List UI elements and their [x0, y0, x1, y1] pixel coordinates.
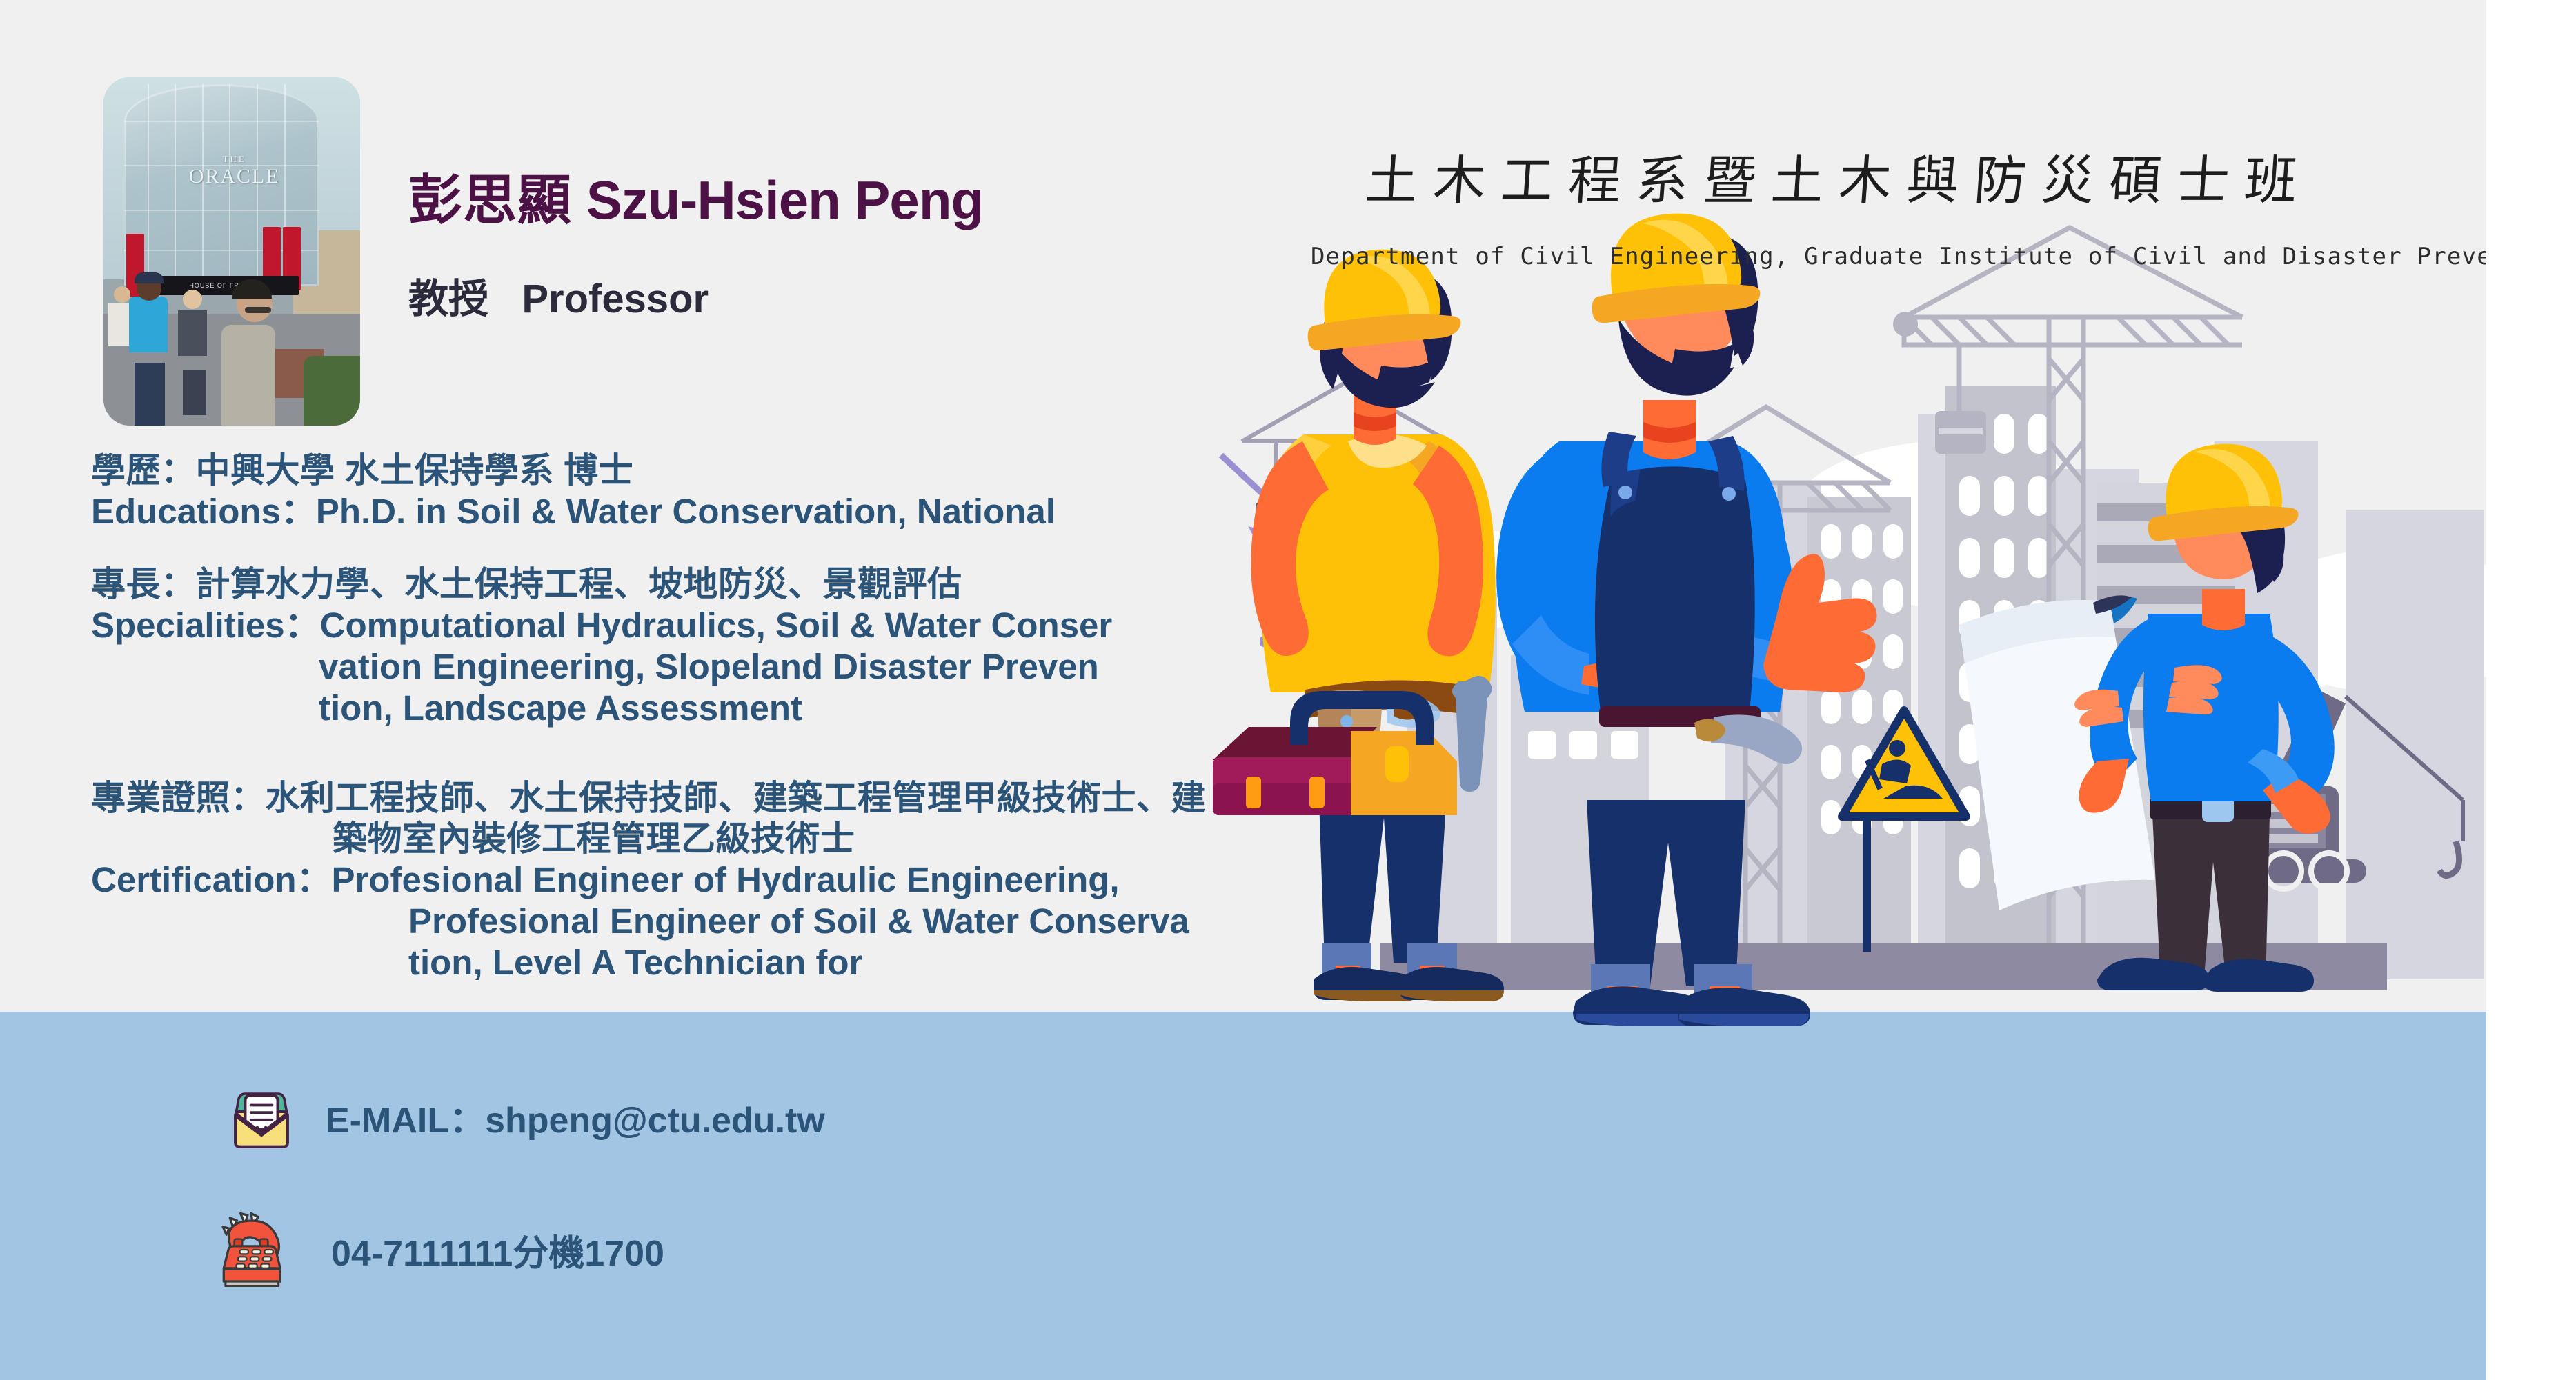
- right-margin: [2486, 0, 2576, 1380]
- info-block-certification: 專業證照：水利工程技師、水土保持技師、建築工程管理甲級技術士、建 築物室內裝修工…: [91, 778, 1206, 984]
- person-name-en: Szu-Hsien Peng: [586, 170, 983, 230]
- info-block-education: 學歷：中興大學 水土保持學系 博士 Educations：Ph.D. in So…: [91, 450, 1056, 532]
- photo-professor-vest: [221, 325, 275, 426]
- info-line: Certification：Profesional Engineer of Hy…: [91, 859, 1206, 901]
- business-card-canvas: THE ORACLE HOUSE OF FRASER 彭思顯 Szu-Hsien…: [0, 0, 2486, 1380]
- info-line: 專業證照：水利工程技師、水土保持技師、建築工程管理甲級技術士、建: [91, 778, 1206, 819]
- photo-bystander-2-legs: [135, 363, 165, 426]
- person-name: 彭思顯 Szu-Hsien Peng: [408, 157, 983, 234]
- info-line: 學歷：中興大學 水土保持學系 博士: [91, 450, 1056, 491]
- department-title-cn: 土木工程系暨土木與防災碩士班: [1363, 138, 2315, 214]
- info-line: 築物室內裝修工程管理乙級技術士: [91, 819, 1206, 859]
- photo-bystander-3-legs: [183, 370, 206, 415]
- photo-store-sign: HOUSE OF FRASER: [150, 276, 299, 295]
- department-title-en: Department of Civil Engineering, Graduat…: [1311, 243, 2428, 270]
- info-line: Specialities：Computational Hydraulics, S…: [91, 605, 1112, 646]
- photo-bystander-2-body: [129, 297, 168, 352]
- photo-bystander-2-cap: [135, 272, 164, 283]
- info-block-specialities: 專長：計算水力學、水土保持工程、坡地防災、景觀評估 Specialities：C…: [91, 564, 1112, 730]
- info-line: Educations：Ph.D. in Soil & Water Conserv…: [91, 491, 1056, 532]
- photo-hedge: [304, 356, 360, 426]
- phone-number[interactable]: 04-7111111分機1700: [331, 1224, 664, 1276]
- photo-professor-glasses: [245, 307, 271, 313]
- profile-photo: THE ORACLE HOUSE OF FRASER: [103, 77, 360, 426]
- email-address[interactable]: E-MAIL：shpeng@ctu.edu.tw: [326, 1091, 825, 1143]
- photo-sign-the: THE: [160, 154, 309, 165]
- info-line: Profesional Engineer of Soil & Water Con…: [91, 901, 1206, 942]
- person-name-cn: 彭思顯: [408, 170, 572, 230]
- person-rank: 教授 Professor: [408, 266, 709, 324]
- photo-bystander-3-head: [183, 290, 202, 309]
- info-line: tion, Landscape Assessment: [91, 688, 1112, 729]
- contact-phone-row[interactable]: 04-7111111分機1700: [207, 1206, 664, 1294]
- photo-bystander-3-body: [178, 310, 207, 356]
- envelope-icon: [221, 1076, 302, 1157]
- photo-store-sign-label: HOUSE OF FRASER: [150, 276, 299, 295]
- info-line: tion, Level A Technician for: [91, 942, 1206, 983]
- photo-oracle-sign: THE ORACLE: [160, 154, 309, 188]
- info-line: 專長：計算水力學、水土保持工程、坡地防災、景觀評估: [91, 564, 1112, 605]
- person-rank-en: Professor: [522, 277, 709, 321]
- info-line: vation Engineering, Slopeland Disaster P…: [91, 646, 1112, 688]
- person-rank-cn: 教授: [408, 277, 488, 321]
- telephone-icon: [207, 1206, 295, 1294]
- photo-sign-main: ORACLE: [189, 165, 280, 188]
- contact-email-row[interactable]: E-MAIL：shpeng@ctu.edu.tw: [221, 1076, 825, 1157]
- photo-bystander-4-head: [114, 286, 130, 303]
